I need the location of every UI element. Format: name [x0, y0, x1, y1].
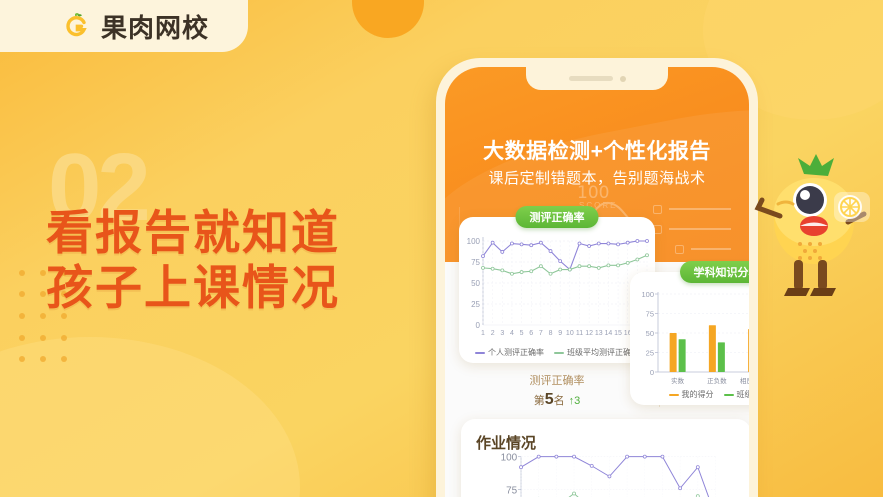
- phone-notch: [526, 67, 668, 90]
- brand-logo: 果肉网校: [0, 0, 248, 52]
- legend-label: 个人测评正确率: [488, 347, 544, 358]
- svg-text:50: 50: [471, 279, 480, 288]
- svg-text:25: 25: [646, 349, 654, 358]
- svg-text:100: 100: [467, 237, 481, 246]
- phone-mockup: 大数据检测+个性化报告 课后定制错题本，告别题海战术 100 SCORE: [436, 58, 758, 497]
- green-crown-icon: [798, 154, 834, 176]
- svg-text:2: 2: [491, 330, 495, 337]
- legend-item: 个人测评正确率: [475, 347, 544, 358]
- svg-text:75: 75: [506, 485, 518, 496]
- headline-line-1: 看报告就知道: [46, 205, 340, 260]
- phone-screen: 大数据检测+个性化报告 课后定制错题本，告别题海战术 100 SCORE: [445, 67, 749, 497]
- svg-text:0: 0: [650, 368, 654, 377]
- svg-text:8: 8: [549, 330, 553, 337]
- legend-item: 我的得分: [669, 389, 714, 400]
- app-header-title: 大数据检测+个性化报告: [445, 135, 749, 165]
- legend-item: 班级平均得分: [724, 389, 750, 400]
- svg-text:75: 75: [471, 258, 480, 267]
- svg-text:9: 9: [558, 330, 562, 337]
- fruit-chick-mascot: [752, 152, 870, 310]
- svg-text:25: 25: [471, 300, 480, 309]
- checkbox-line-1: [653, 205, 731, 215]
- brand-name: 果肉网校: [101, 8, 209, 45]
- headline: 看报告就知道 孩子上课情况: [46, 205, 340, 316]
- legend-swatch: [669, 394, 679, 396]
- svg-text:4: 4: [510, 330, 514, 337]
- rank-stat-value: 第5名↑3: [534, 391, 581, 409]
- legend-label: 我的得分: [682, 389, 714, 400]
- svg-text:13: 13: [595, 330, 603, 337]
- svg-text:6: 6: [529, 330, 533, 337]
- accuracy-line-chart: 0255075100123456789101112131415161718: [459, 217, 655, 363]
- camera-icon: [620, 76, 626, 82]
- svg-text:3: 3: [500, 330, 504, 337]
- legend-item: 班级平均测评正确率: [554, 347, 639, 358]
- svg-text:0: 0: [476, 321, 481, 330]
- lemon-slice-icon: [834, 192, 870, 222]
- rank-suffix: 名: [554, 395, 565, 407]
- card-homework-chart[interactable]: 作业情况 75100: [461, 419, 749, 497]
- rank-change: ↑3: [569, 395, 581, 407]
- headline-line-2: 孩子上课情况: [46, 260, 340, 315]
- svg-text:50: 50: [646, 329, 654, 338]
- legend-label: 班级平均测评正确率: [567, 347, 639, 358]
- svg-text:11: 11: [576, 330, 583, 337]
- legend-label: 班级平均得分: [737, 389, 750, 400]
- svg-text:相反意义量: 相反意义量: [740, 376, 749, 385]
- svg-text:1: 1: [481, 330, 485, 337]
- svg-text:5: 5: [520, 330, 524, 337]
- svg-text:12: 12: [585, 330, 593, 337]
- card-accuracy-chart[interactable]: 测评正确率 0255075100123456789101112131415161…: [459, 217, 655, 363]
- rank-stat-label: 测评正确率: [530, 372, 585, 388]
- legend-swatch: [724, 394, 734, 396]
- legend-swatch: [475, 352, 485, 354]
- speaker-icon: [569, 76, 613, 81]
- homework-line-chart: 75100: [461, 449, 749, 497]
- knowledge-bar-chart: 0255075100实数正负数相反意义量数轴: [630, 272, 749, 405]
- checkbox-line-3: [675, 245, 731, 255]
- svg-text:100: 100: [501, 452, 518, 463]
- svg-text:100: 100: [641, 290, 654, 299]
- rank-prefix: 第: [534, 395, 545, 407]
- svg-text:75: 75: [646, 310, 654, 319]
- artwork-score-number: 100: [577, 183, 609, 203]
- checkbox-line-2: [653, 225, 731, 235]
- svg-text:15: 15: [614, 330, 622, 337]
- svg-text:正负数: 正负数: [707, 376, 727, 385]
- decor-circle-orange: [352, 0, 424, 38]
- svg-text:14: 14: [605, 330, 613, 337]
- knowledge-chart-legend: 我的得分班级平均得分: [630, 389, 749, 400]
- rank-stat: 测评正确率 第5名↑3: [459, 367, 655, 413]
- rank-number: 5: [545, 391, 554, 408]
- accuracy-chart-legend: 个人测评正确率班级平均测评正确率: [459, 347, 655, 358]
- legend-swatch: [554, 352, 564, 354]
- svg-text:7: 7: [539, 330, 543, 337]
- svg-text:10: 10: [566, 330, 574, 337]
- fruit-g-logo-icon: [62, 11, 92, 41]
- svg-text:实数: 实数: [671, 376, 685, 385]
- poster-canvas: 02 果肉网校 看报告就知道 孩子上课情况 大数据检测+个性化报告: [0, 0, 883, 497]
- rank-change-value: 3: [574, 395, 580, 407]
- card-knowledge-chart[interactable]: 学科知识分析 0255075100实数正负数相反意义量数轴 我的得分班级平均得分: [630, 272, 749, 405]
